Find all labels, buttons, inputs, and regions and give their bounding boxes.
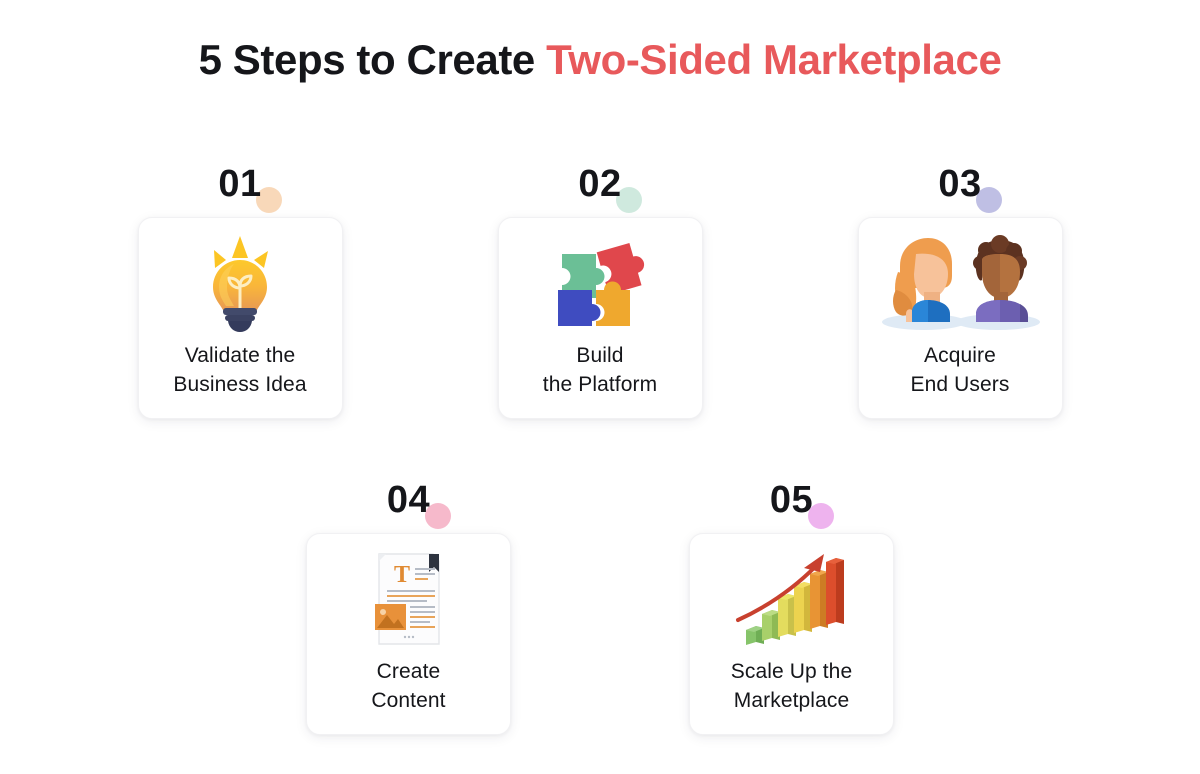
step-02-card[interactable]: Build the Platform [498,217,703,419]
step-03-caption-line2: End Users [911,371,1010,400]
step-01-caption-line2: Business Idea [173,371,306,400]
step-03-caption-line1: Acquire [924,344,996,367]
step-01-caption: Validate the Business Idea [169,342,310,400]
step-01-card[interactable]: Validate the Business Idea [138,217,343,419]
step-05-number: 05 [770,471,813,519]
steps-row-top: 01 [0,155,1200,419]
steps-row-bottom: 04 T [0,471,1200,735]
step-04-number: 04 [387,471,430,519]
step-01-number-group: 01 [138,155,343,217]
step-05[interactable]: 05 [689,471,894,735]
step-04-caption: Create Content [367,658,449,716]
step-02-number: 02 [578,155,621,203]
growth-bar-chart-icon [690,542,893,658]
step-04-caption-line2: Content [371,687,445,716]
step-02-caption-line1: Build [576,344,623,367]
step-05-number-group: 05 [689,471,894,533]
step-03[interactable]: 03 [858,155,1063,419]
step-04-card[interactable]: T [306,533,511,735]
step-05-card[interactable]: Scale Up the Marketplace [689,533,894,735]
step-02-caption-line2: the Platform [543,371,657,400]
step-03-caption: Acquire End Users [907,342,1014,400]
two-users-icon [859,226,1062,342]
step-02-number-group: 02 [498,155,703,217]
step-01-number: 01 [218,155,261,203]
page-title: 5 Steps to Create Two-Sided Marketplace [0,36,1200,84]
page-title-primary: 5 Steps to Create [199,36,547,83]
step-01-caption-line1: Validate the [185,344,296,367]
document-content-icon: T [307,542,510,658]
step-01[interactable]: 01 [138,155,343,419]
lightbulb-idea-icon [139,226,342,342]
step-05-caption: Scale Up the Marketplace [727,658,856,716]
step-03-card[interactable]: Acquire End Users [858,217,1063,419]
svg-text:T: T [394,562,410,588]
step-03-number: 03 [938,155,981,203]
step-03-number-group: 03 [858,155,1063,217]
step-02[interactable]: 02 Build the Platform [498,155,703,419]
step-04[interactable]: 04 T [306,471,511,735]
step-04-number-group: 04 [306,471,511,533]
step-02-caption: Build the Platform [539,342,661,400]
step-04-caption-line1: Create [377,660,441,683]
step-05-caption-line1: Scale Up the [731,660,852,683]
puzzle-pieces-icon [499,226,702,342]
page-title-accent: Two-Sided Marketplace [546,36,1001,83]
step-05-caption-line2: Marketplace [731,687,852,716]
